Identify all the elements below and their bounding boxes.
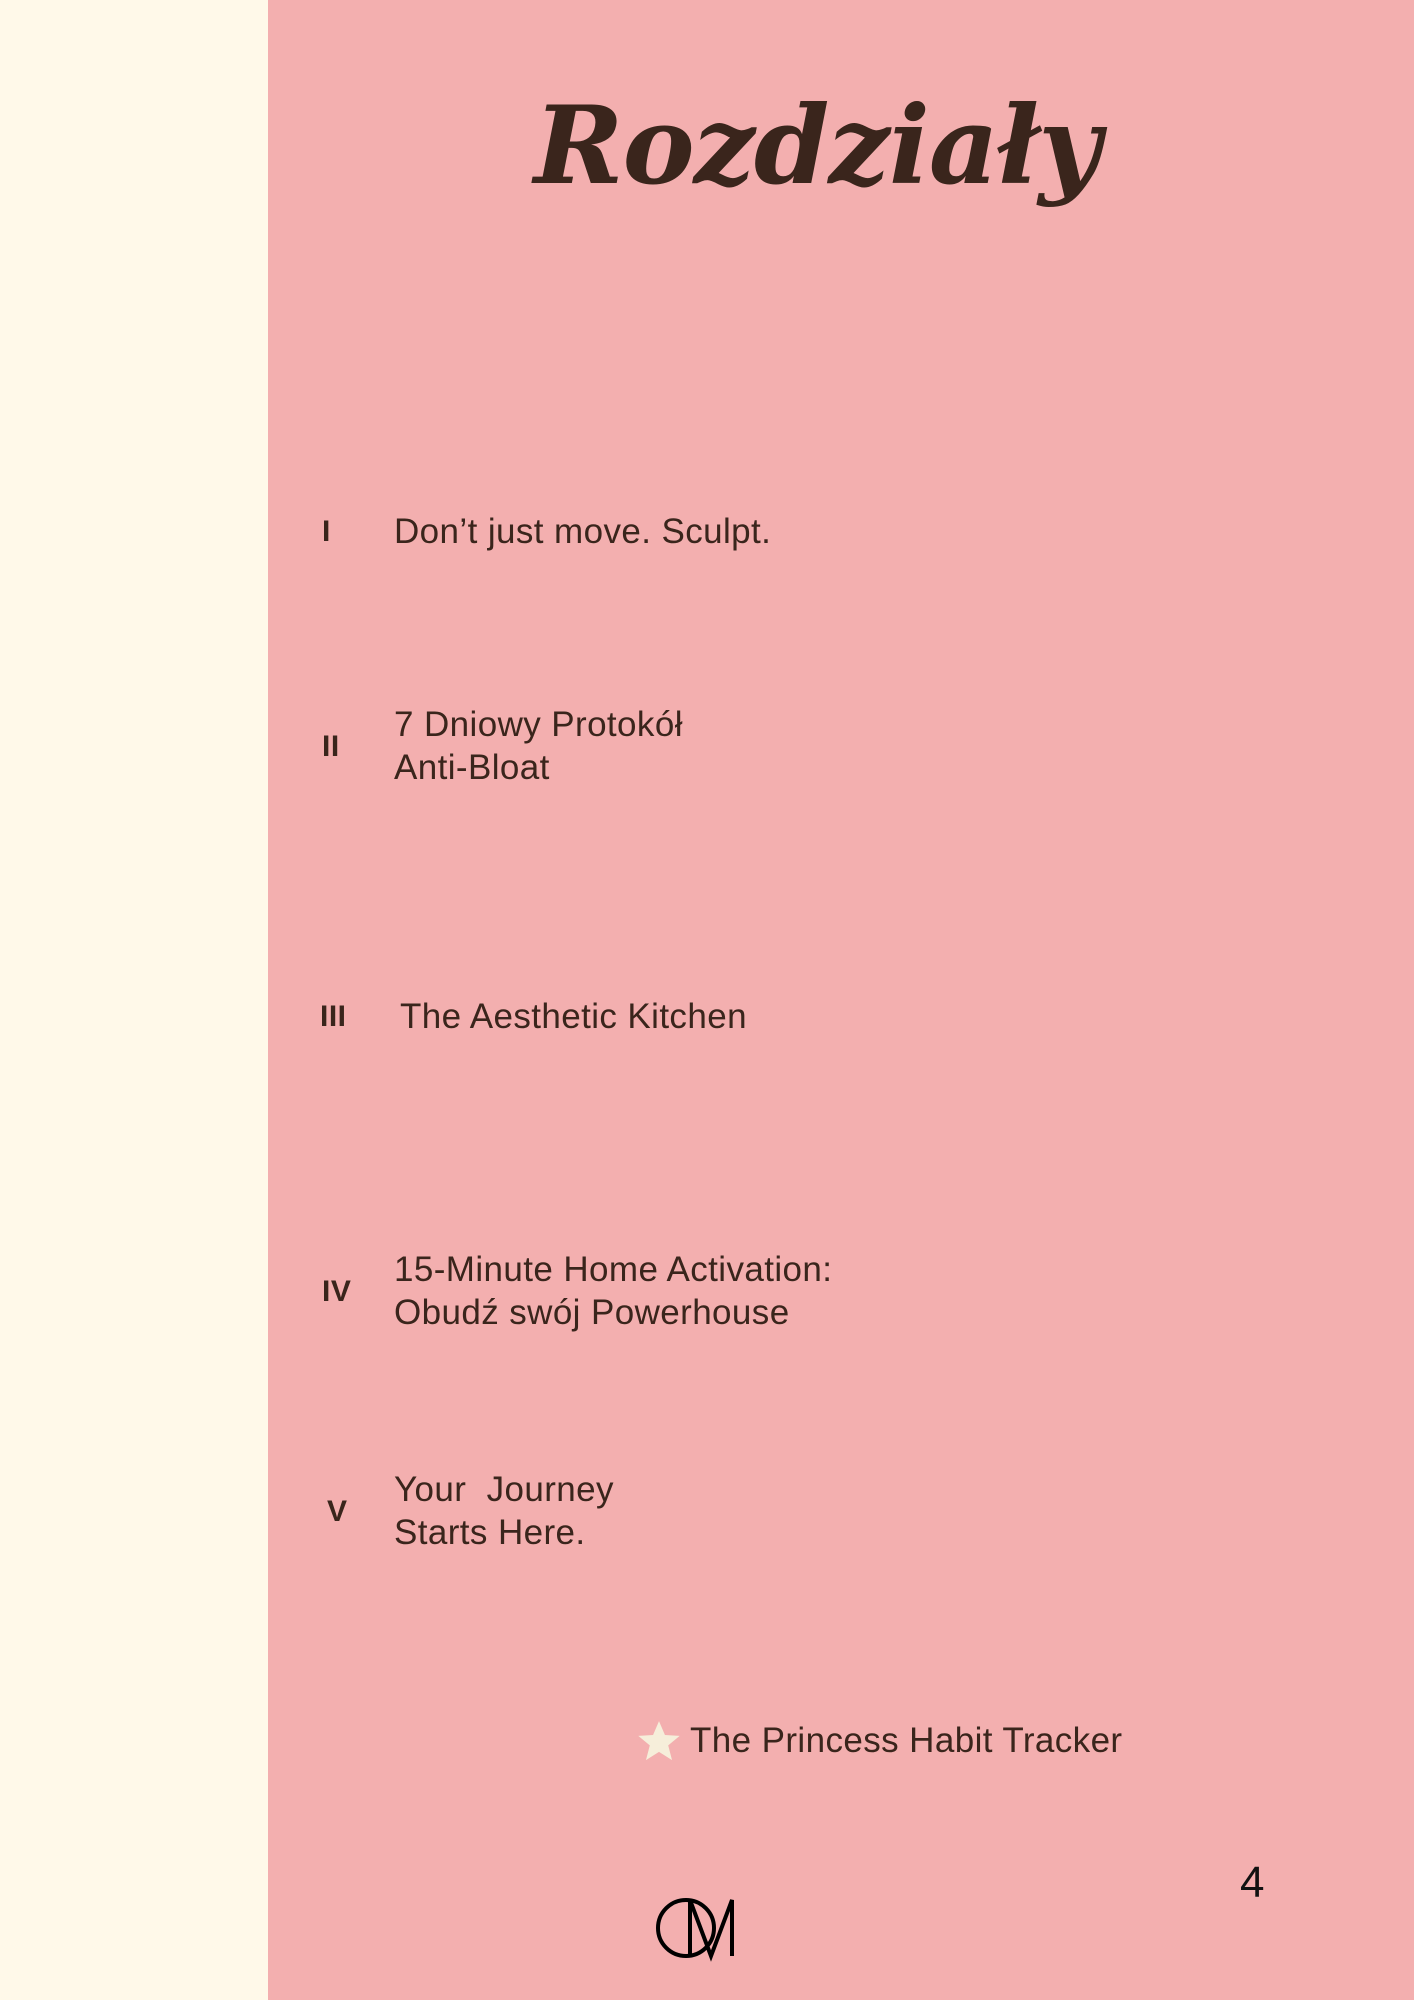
page-number: 4 <box>1240 1858 1264 1908</box>
toc-entry-title-line: Obudź swój Powerhouse <box>394 1292 1414 1335</box>
toc-bonus-entry[interactable]: The Princess Habit Tracker <box>0 1718 1414 1764</box>
toc-entry-numeral: II <box>0 730 380 764</box>
toc-entry-title-line: Your Journey <box>394 1469 1414 1512</box>
table-of-contents-list: I Don’t just move. Sculpt. II 7 Dniowy P… <box>0 432 1414 1612</box>
page-canvas: Rozdziały I Don’t just move. Sculpt. II … <box>0 0 1414 2000</box>
toc-entry-title-line: The Aesthetic Kitchen <box>400 996 1414 1039</box>
toc-entry-title: 7 Dniowy Protokół Anti-Bloat <box>380 704 1414 789</box>
toc-bonus-label: The Princess Habit Tracker <box>690 1721 1123 1761</box>
toc-entry-title: 15-Minute Home Activation: Obudź swój Po… <box>380 1249 1414 1334</box>
toc-entry-title-line: Starts Here. <box>394 1512 1414 1555</box>
toc-entry-title-line: 15-Minute Home Activation: <box>394 1249 1414 1292</box>
toc-entry[interactable]: IV 15-Minute Home Activation: Obudź swój… <box>0 1172 1414 1412</box>
toc-entry-title-line: 7 Dniowy Protokół <box>394 704 1414 747</box>
toc-entry-title-line: Don’t just move. Sculpt. <box>394 511 1414 554</box>
om-monogram-logo <box>650 1888 760 1968</box>
toc-entry[interactable]: I Don’t just move. Sculpt. <box>0 432 1414 632</box>
toc-entry-numeral: V <box>0 1495 380 1529</box>
toc-entry-numeral: IV <box>0 1275 380 1309</box>
toc-entry-title: Your Journey Starts Here. <box>380 1469 1414 1554</box>
page-title: Rozdziały <box>268 92 1414 200</box>
toc-entry-numeral: III <box>0 1000 380 1034</box>
toc-entry-numeral: I <box>0 515 380 549</box>
toc-entry[interactable]: III The Aesthetic Kitchen <box>0 862 1414 1172</box>
toc-entry[interactable]: II 7 Dniowy Protokół Anti-Bloat <box>0 632 1414 862</box>
toc-entry-title: The Aesthetic Kitchen <box>380 996 1414 1039</box>
toc-entry[interactable]: V Your Journey Starts Here. <box>0 1412 1414 1612</box>
star-icon <box>636 1718 682 1764</box>
toc-entry-title-line: Anti-Bloat <box>394 747 1414 790</box>
toc-entry-title: Don’t just move. Sculpt. <box>380 511 1414 554</box>
